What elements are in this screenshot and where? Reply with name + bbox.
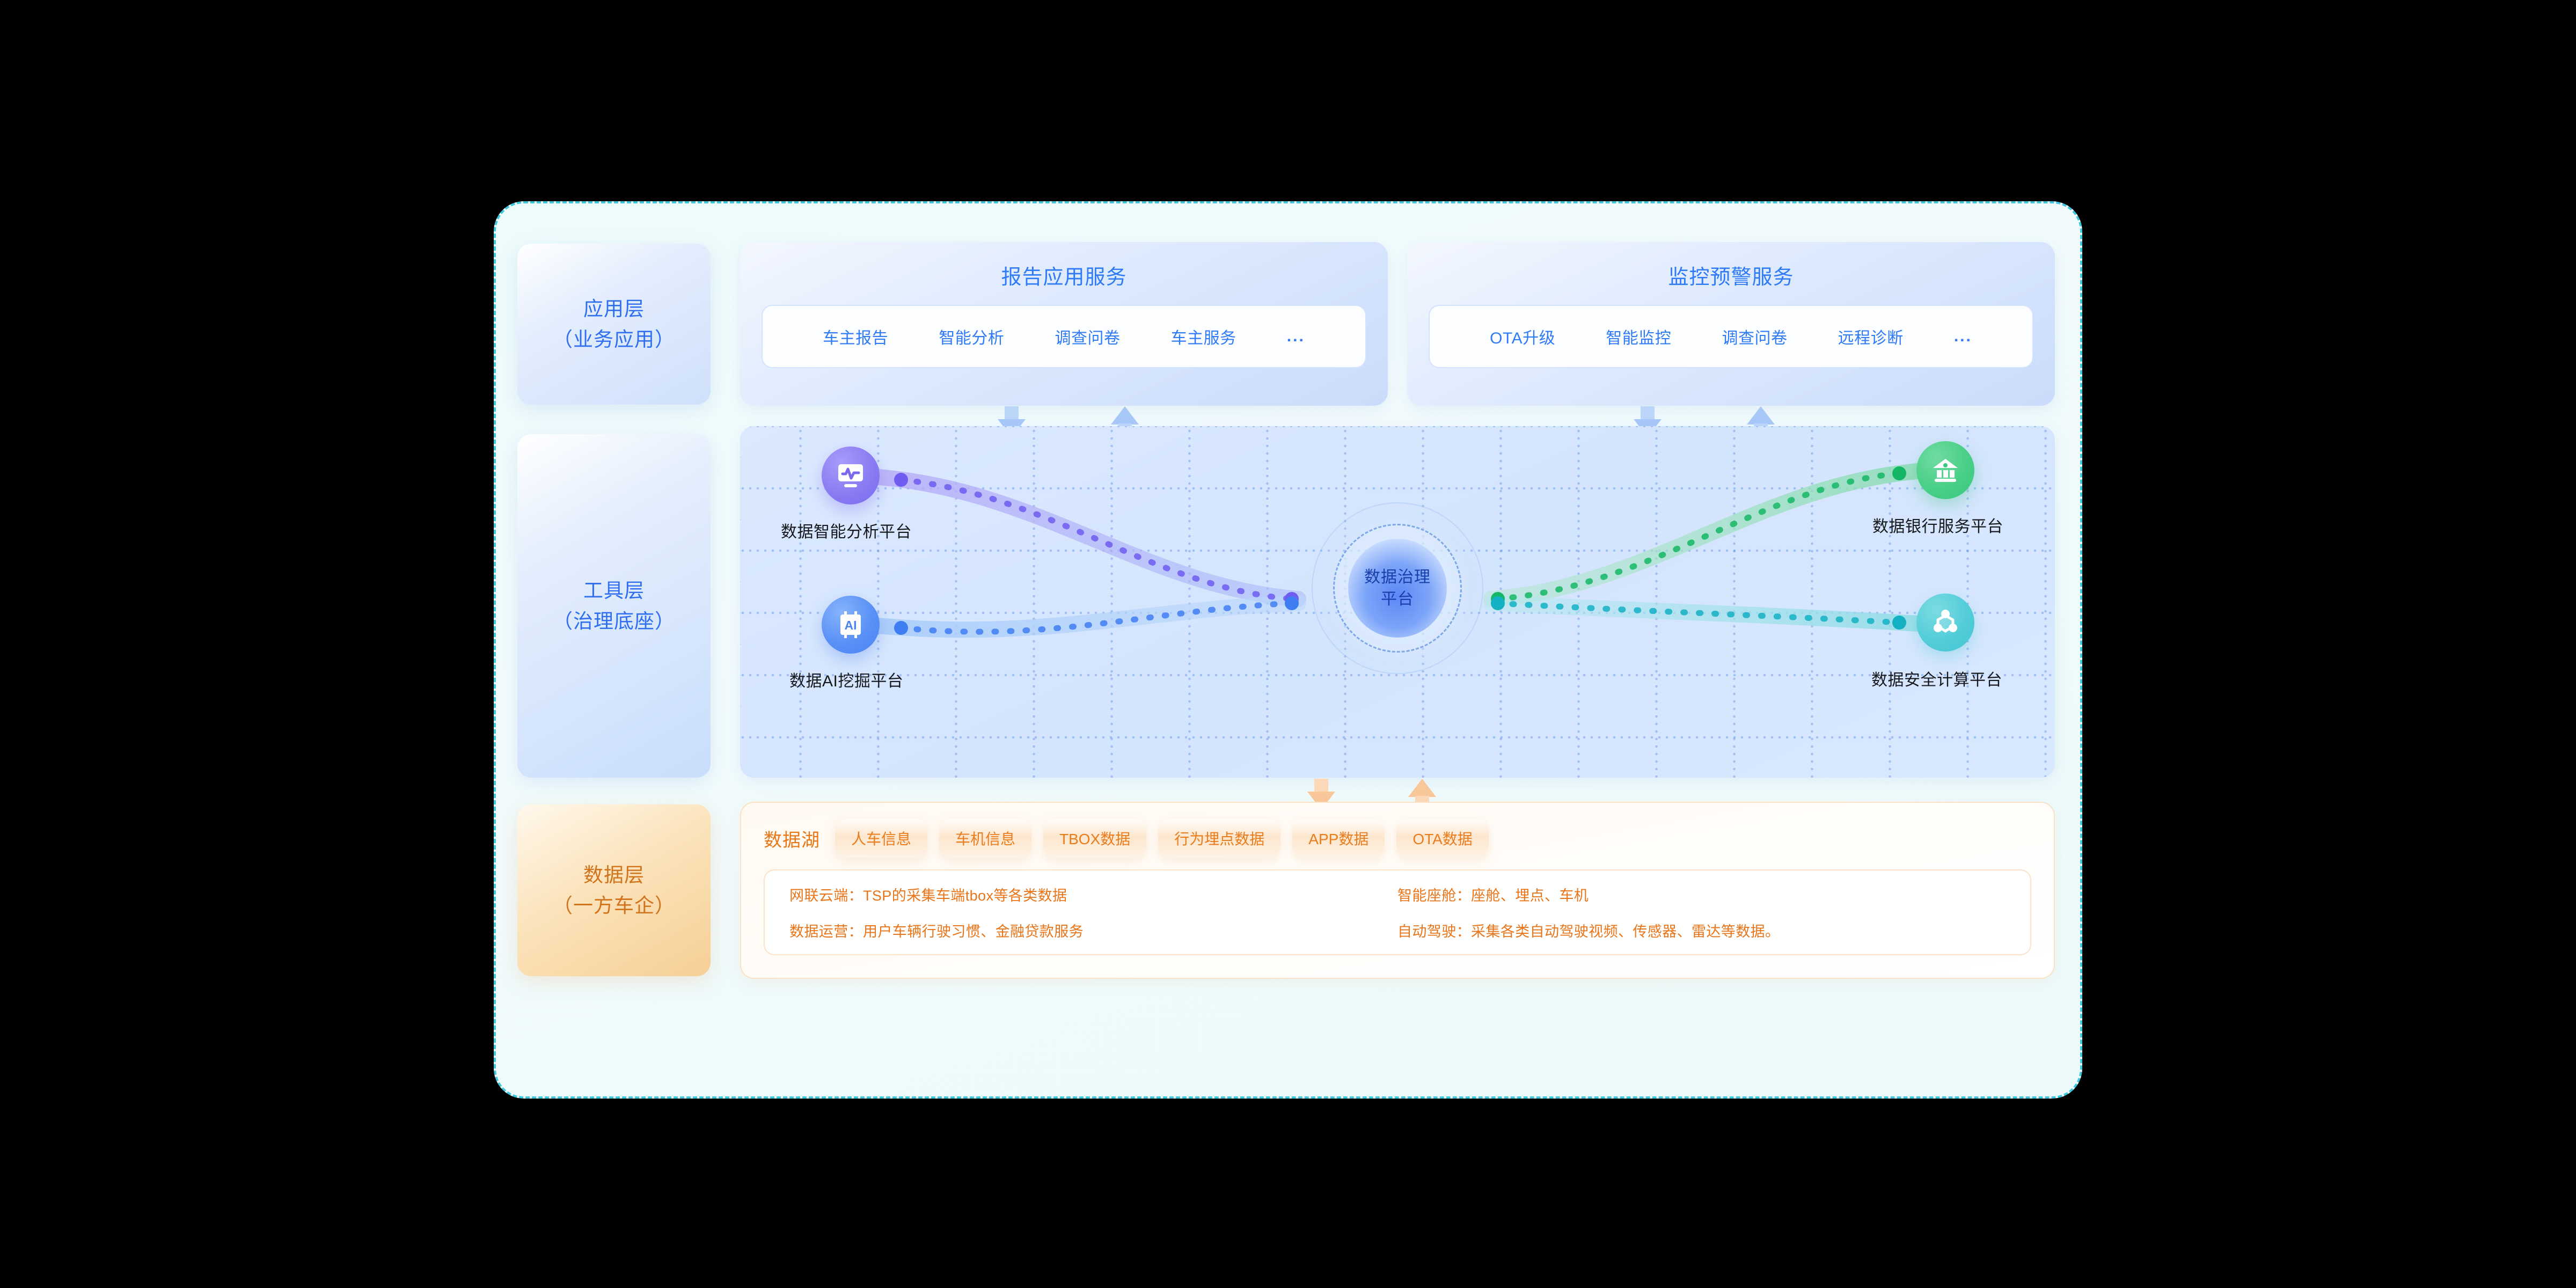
data-description-box: 网联云端：TSP的采集车端tbox等各类数据 数据运营：用户车辆行驶习惯、金融贷… — [764, 869, 2031, 955]
layer-chip-data[interactable]: 数据层 （一方车企） — [517, 804, 711, 976]
layer-chip-application-title: 应用层 — [583, 294, 645, 324]
service-tag-smart-monitor[interactable]: 智能监控 — [1606, 325, 1671, 348]
node-label-ai: 数据AI挖掘平台 — [789, 668, 903, 691]
hub-title-line1: 数据治理 — [1364, 566, 1431, 588]
service-card-report-title: 报告应用服务 — [762, 260, 1366, 290]
bank-building-icon[interactable] — [1916, 441, 1974, 499]
layer-chip-tool-subtitle: （治理底座） — [553, 606, 675, 636]
architecture-diagram: 应用层 （业务应用） 工具层 （治理底座） 数据层 （一方车企） 报告应用服务 … — [494, 201, 2082, 1099]
node-label-analysis: 数据智能分析平台 — [781, 518, 912, 542]
layer-chip-application[interactable]: 应用层 （业务应用） — [517, 244, 711, 405]
service-tag-remote-diagnosis[interactable]: 远程诊断 — [1838, 325, 1904, 348]
service-card-monitor-title: 监控预警服务 — [1429, 260, 2033, 290]
service-tag-more-monitor[interactable]: ... — [1954, 327, 1972, 346]
lake-pill-ota[interactable]: OTA数据 — [1396, 819, 1488, 858]
lake-pill-person-vehicle[interactable]: 人车信息 — [835, 819, 927, 858]
application-layer-row: 报告应用服务 车主报告 智能分析 调查问卷 车主服务 ... 监控预警服务 OT… — [740, 242, 2055, 406]
layer-chip-data-subtitle: （一方车企） — [553, 890, 675, 921]
service-tag-owner-service[interactable]: 车主服务 — [1171, 325, 1236, 348]
hub-core: 数据治理 平台 — [1348, 539, 1447, 638]
monitor-pulse-glyph — [834, 459, 867, 492]
layer-chip-data-title: 数据层 — [583, 860, 645, 890]
description-connected-cloud: 网联云端：TSP的采集车端tbox等各类数据 — [789, 884, 1397, 905]
service-tag-survey[interactable]: 调查问卷 — [1055, 325, 1120, 348]
layer-chip-tool-title: 工具层 — [583, 575, 645, 606]
layer-chip-application-subtitle: （业务应用） — [553, 324, 675, 355]
node-label-bank: 数据银行服务平台 — [1872, 513, 2003, 537]
tool-layer-panel: AI 数据智能分析平台 数据AI挖掘平台 数据银行服务平台 — [740, 426, 2055, 778]
hub-title-line2: 平台 — [1364, 588, 1431, 610]
lake-pill-behavior-tracking[interactable]: 行为埋点数据 — [1158, 819, 1280, 858]
ai-chip-glyph: AI — [834, 608, 867, 641]
ai-chip-icon[interactable]: AI — [822, 596, 880, 654]
shield-network-icon[interactable] — [1916, 594, 1974, 652]
data-layer-panel: 数据湖 人车信息 车机信息 TBOX数据 行为埋点数据 APP数据 OTA数据 … — [740, 802, 2055, 979]
monitor-pulse-icon[interactable] — [822, 447, 880, 504]
svg-text:AI: AI — [845, 618, 857, 632]
service-tag-ota-upgrade[interactable]: OTA升级 — [1490, 325, 1555, 348]
description-column-right: 智能座舱：座舱、埋点、车机 自动驾驶：采集各类自动驾驶视频、传感器、雷达等数据。 — [1397, 887, 2006, 938]
data-lake-row: 数据湖 人车信息 车机信息 TBOX数据 行为埋点数据 APP数据 OTA数据 — [764, 819, 2031, 858]
service-tag-smart-analysis[interactable]: 智能分析 — [939, 325, 1004, 348]
service-card-report[interactable]: 报告应用服务 车主报告 智能分析 调查问卷 车主服务 ... — [740, 242, 1388, 406]
service-card-monitor-tagbox: OTA升级 智能监控 调查问卷 远程诊断 ... — [1429, 305, 2033, 368]
description-autonomous-driving: 自动驾驶：采集各类自动驾驶视频、传感器、雷达等数据。 — [1397, 920, 2006, 941]
lake-pill-app[interactable]: APP数据 — [1292, 819, 1385, 858]
layer-chip-tool[interactable]: 工具层 （治理底座） — [517, 434, 711, 778]
lake-pill-tbox[interactable]: TBOX数据 — [1043, 819, 1146, 858]
service-tag-survey-2[interactable]: 调查问卷 — [1722, 325, 1787, 348]
lake-pill-vehicle-machine[interactable]: 车机信息 — [939, 819, 1031, 858]
description-smart-cockpit: 智能座舱：座舱、埋点、车机 — [1397, 884, 2006, 905]
data-lake-title: 数据湖 — [764, 825, 820, 852]
service-tag-owner-report[interactable]: 车主报告 — [823, 325, 888, 348]
shield-network-glyph — [1929, 606, 1962, 639]
service-card-monitor[interactable]: 监控预警服务 OTA升级 智能监控 调查问卷 远程诊断 ... — [1407, 242, 2055, 406]
description-column-left: 网联云端：TSP的采集车端tbox等各类数据 数据运营：用户车辆行驶习惯、金融贷… — [789, 887, 1397, 938]
service-card-report-tagbox: 车主报告 智能分析 调查问卷 车主服务 ... — [762, 305, 1366, 368]
data-governance-hub[interactable]: 数据治理 平台 — [1312, 502, 1483, 674]
bank-building-glyph — [1929, 453, 1962, 487]
description-data-operations: 数据运营：用户车辆行驶习惯、金融贷款服务 — [789, 920, 1397, 941]
node-label-security: 数据安全计算平台 — [1871, 667, 2002, 690]
service-tag-more-report[interactable]: ... — [1287, 327, 1305, 346]
